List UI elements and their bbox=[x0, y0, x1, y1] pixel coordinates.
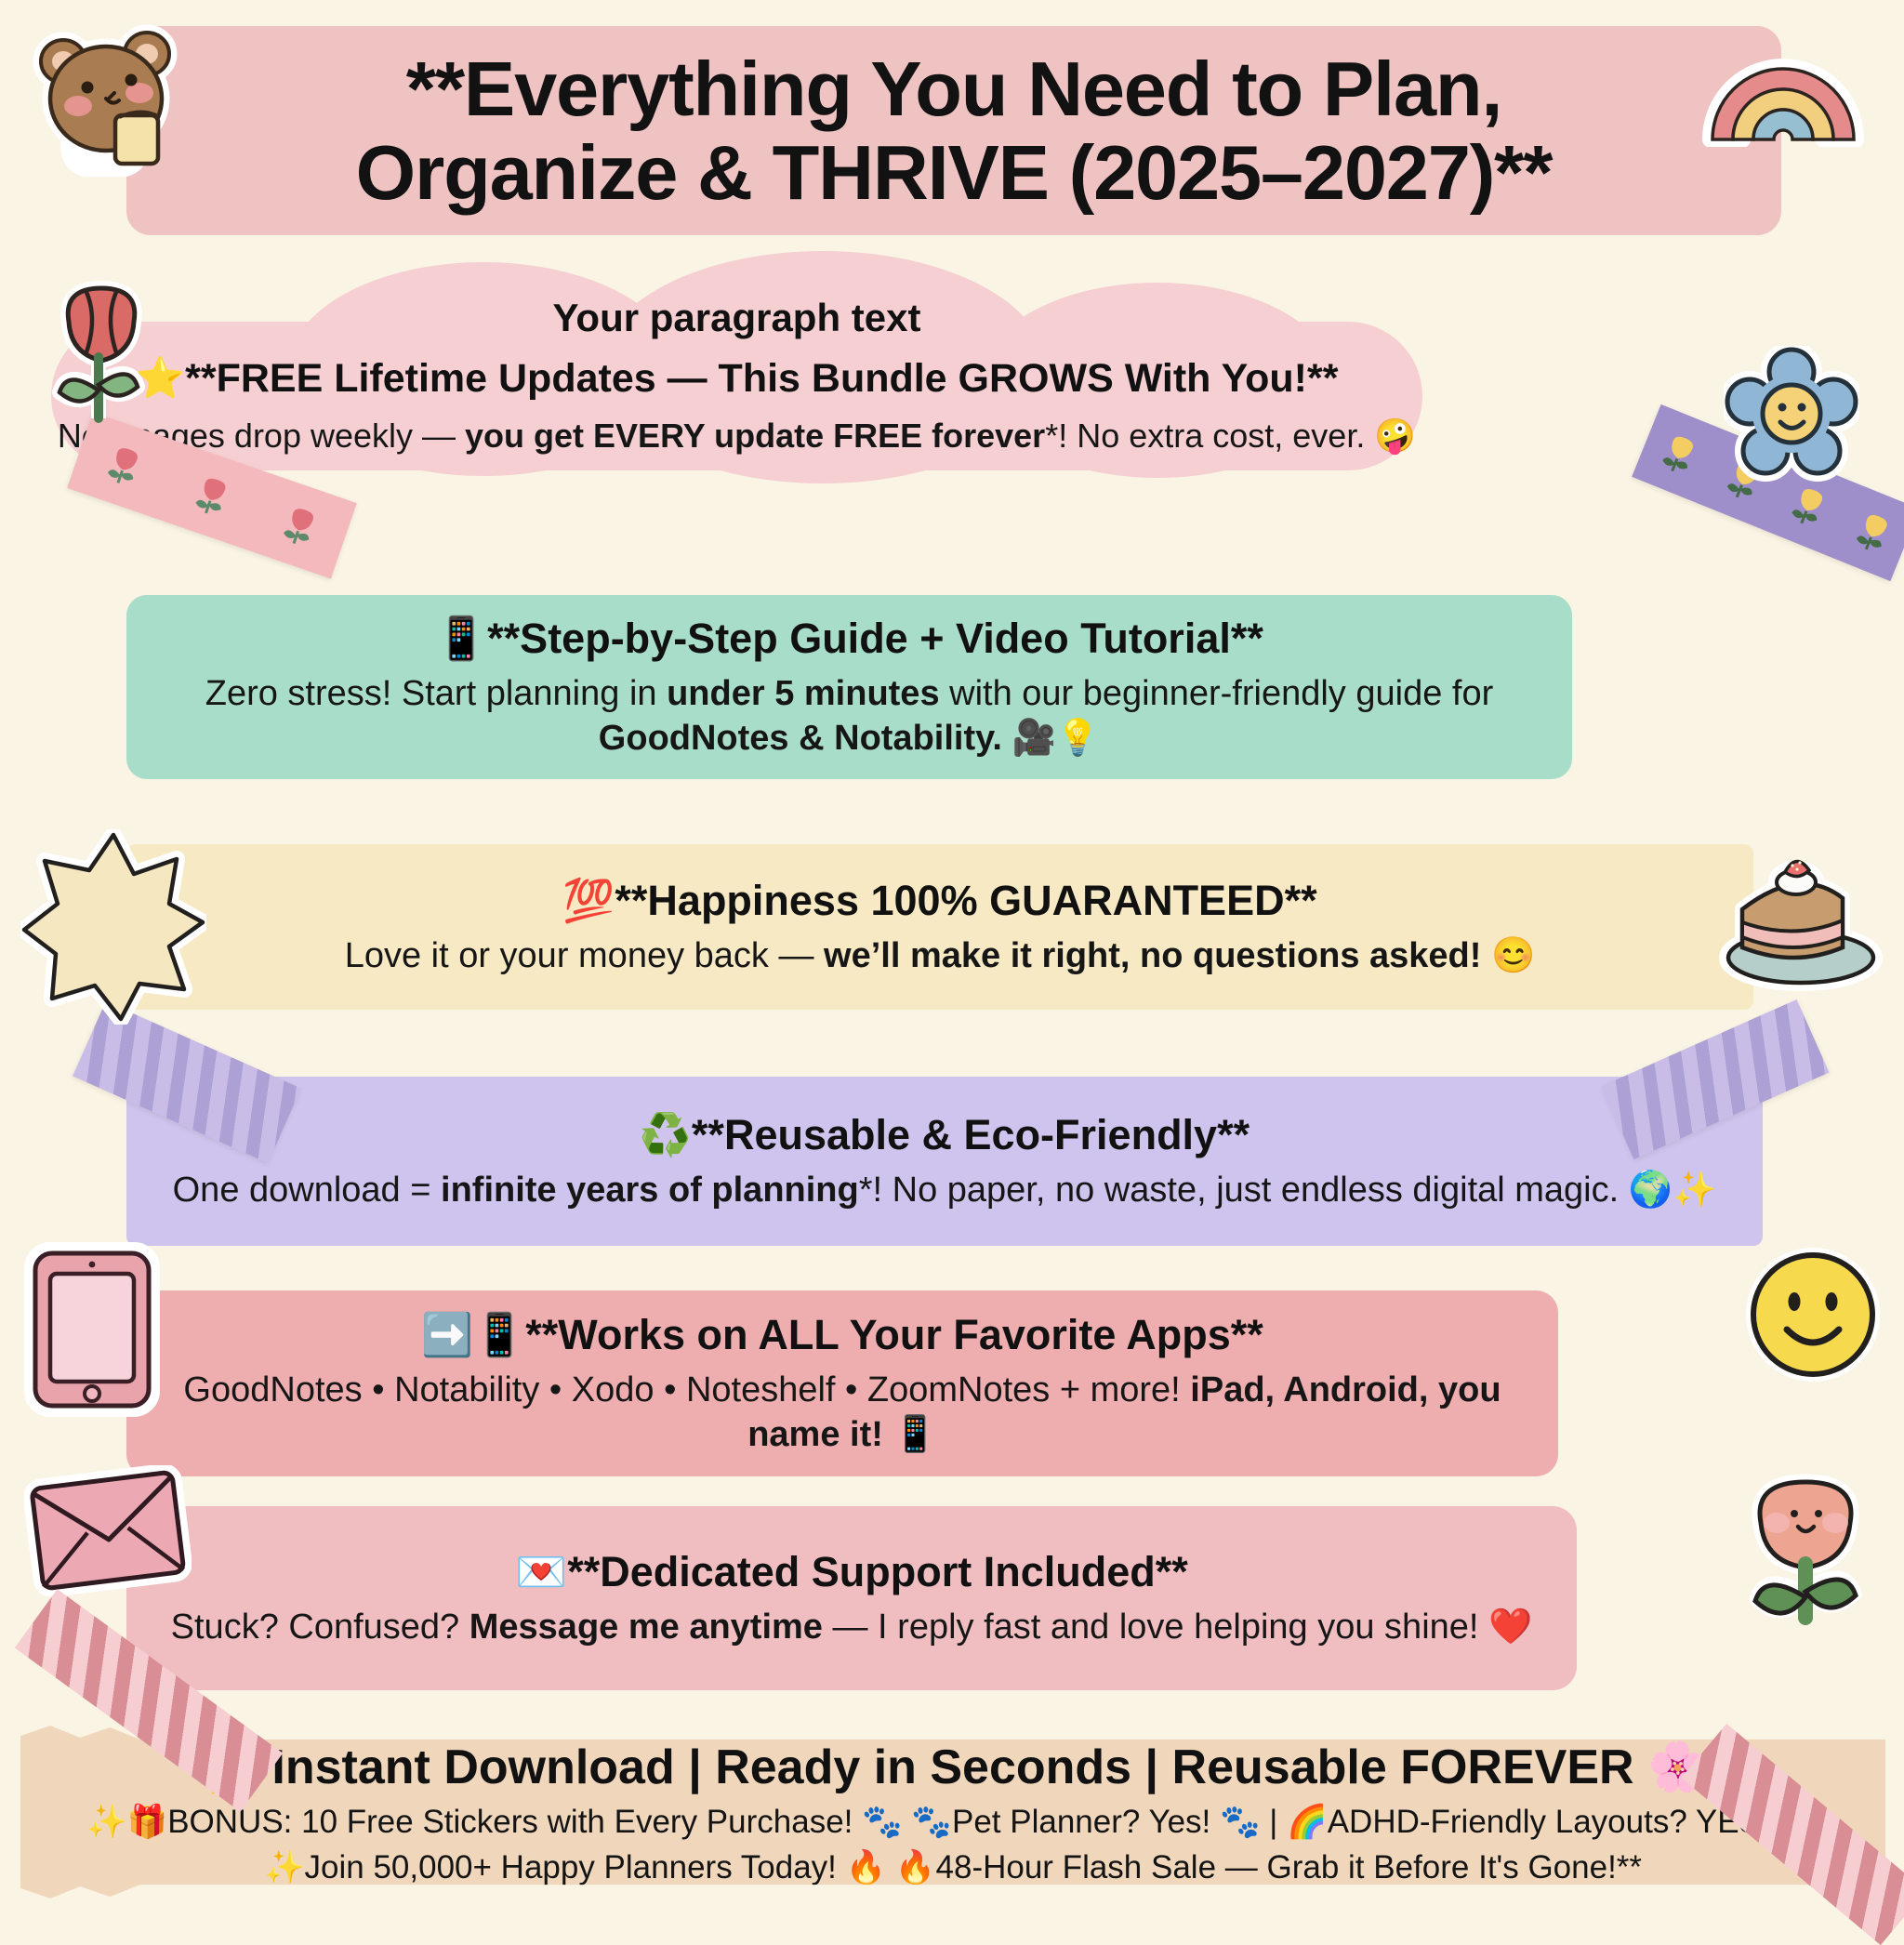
apps-body-pre: GoodNotes • Notability • Xodo • Noteshel… bbox=[183, 1370, 1190, 1409]
cloud-section: Your paragraph text ⭐**FREE Lifetime Upd… bbox=[51, 262, 1422, 471]
pink-flower-face-sticker bbox=[1735, 1465, 1878, 1644]
yellow-smiley-face-sticker bbox=[1744, 1246, 1882, 1383]
bear-with-drink-sticker bbox=[26, 13, 190, 177]
guarantee-body: Love it or your money back — we’ll make … bbox=[323, 934, 1558, 979]
blue-smiley-flower-sticker bbox=[1724, 346, 1859, 482]
guide-body-line2-post: 🎥💡 bbox=[1002, 719, 1100, 758]
support-body-bold: Message me anytime bbox=[469, 1608, 823, 1647]
eco-body-bold: infinite years of planning bbox=[441, 1171, 859, 1210]
cloud-body-bold: you get EVERY update FREE forever bbox=[465, 417, 1045, 455]
title-banner: **Everything You Need to Plan, Organize … bbox=[126, 26, 1781, 235]
paragraph-label: Your paragraph text bbox=[553, 296, 921, 340]
cloud-body-text: New pages drop weekly — you get EVERY up… bbox=[58, 417, 1416, 456]
guarantee-headline: 💯**Happiness 100% GUARANTEED** bbox=[562, 876, 1316, 925]
footer-line-2: ✨Join 50,000+ Happy Planners Today! 🔥 🔥4… bbox=[264, 1848, 1642, 1886]
cream-starburst-sticker bbox=[20, 829, 206, 1025]
tulip-pattern-icon bbox=[1786, 481, 1831, 531]
guide-headline: 📱**Step-by-Step Guide + Video Tutorial** bbox=[435, 614, 1263, 663]
poster-canvas: **Everything You Need to Plan, Organize … bbox=[0, 0, 1904, 1904]
eco-body-pre: One download = bbox=[173, 1171, 441, 1210]
title-line-1: **Everything You Need to Plan, bbox=[406, 47, 1502, 131]
support-body-post: — I reply fast and love helping you shin… bbox=[823, 1608, 1532, 1647]
eco-body: One download = infinite years of plannin… bbox=[151, 1169, 1739, 1213]
pink-envelope-sticker bbox=[24, 1465, 192, 1597]
support-headline: 💌**Dedicated Support Included** bbox=[515, 1547, 1188, 1596]
cloud-headline: ⭐**FREE Lifetime Updates — This Bundle G… bbox=[136, 355, 1339, 402]
strawberry-cake-slice-sticker bbox=[1714, 852, 1887, 1000]
tulip-pattern-icon bbox=[102, 441, 145, 490]
apps-body-post: 📱 bbox=[883, 1415, 937, 1454]
red-tulip-sticker bbox=[41, 268, 162, 440]
guarantee-body-bold: we’ll make it right, no questions asked! bbox=[824, 936, 1481, 975]
guarantee-body-pre: Love it or your money back — bbox=[345, 936, 824, 975]
guide-body-bold: under 5 minutes bbox=[667, 674, 940, 713]
eco-body-post: *! No paper, no waste, just endless digi… bbox=[859, 1171, 1717, 1210]
section-apps: ➡️📱**Works on ALL Your Favorite Apps** G… bbox=[126, 1290, 1558, 1476]
section-guarantee: 💯**Happiness 100% GUARANTEED** Love it o… bbox=[126, 844, 1753, 1010]
eco-headline: ♻️**Reusable & Eco-Friendly** bbox=[640, 1110, 1249, 1159]
guide-body-pre: Zero stress! Start planning in bbox=[205, 674, 667, 713]
cloud-body-post: *! No extra cost, ever. 🤪 bbox=[1045, 417, 1416, 455]
pink-tablet-sticker bbox=[24, 1242, 162, 1419]
tulip-pattern-icon bbox=[278, 501, 321, 550]
section-eco: ♻️**Reusable & Eco-Friendly** One downlo… bbox=[126, 1077, 1763, 1246]
apps-headline: ➡️📱**Works on ALL Your Favorite Apps** bbox=[421, 1310, 1263, 1359]
footer-headline: ⚡ Instant Download | Ready in Seconds | … bbox=[198, 1739, 1708, 1795]
footer-banner: ⚡ Instant Download | Ready in Seconds | … bbox=[20, 1726, 1885, 1899]
guide-body-post: with our beginner-friendly guide for bbox=[940, 674, 1494, 713]
section-guide: 📱**Step-by-Step Guide + Video Tutorial**… bbox=[126, 595, 1572, 779]
support-body-pre: Stuck? Confused? bbox=[171, 1608, 469, 1647]
footer-line-1: ✨🎁BONUS: 10 Free Stickers with Every Pur… bbox=[86, 1803, 1819, 1841]
apps-body: GoodNotes • Notability • Xodo • Noteshel… bbox=[126, 1369, 1558, 1458]
tulip-pattern-icon bbox=[1850, 507, 1895, 557]
guarantee-body-post: 😊 bbox=[1481, 936, 1535, 975]
section-support: 💌**Dedicated Support Included** Stuck? C… bbox=[126, 1506, 1577, 1690]
guide-body-line2-bold: GoodNotes & Notability. bbox=[599, 719, 1002, 758]
title-line-2: Organize & THRIVE (2025–2027)** bbox=[356, 131, 1553, 215]
support-body: Stuck? Confused? Message me anytime — I … bbox=[149, 1606, 1555, 1650]
tulip-pattern-icon bbox=[1657, 429, 1701, 479]
guide-body: Zero stress! Start planning in under 5 m… bbox=[183, 672, 1516, 761]
cloud-content: Your paragraph text ⭐**FREE Lifetime Upd… bbox=[51, 262, 1422, 471]
tulip-pattern-icon bbox=[191, 471, 233, 521]
rainbow-sticker bbox=[1699, 24, 1867, 147]
